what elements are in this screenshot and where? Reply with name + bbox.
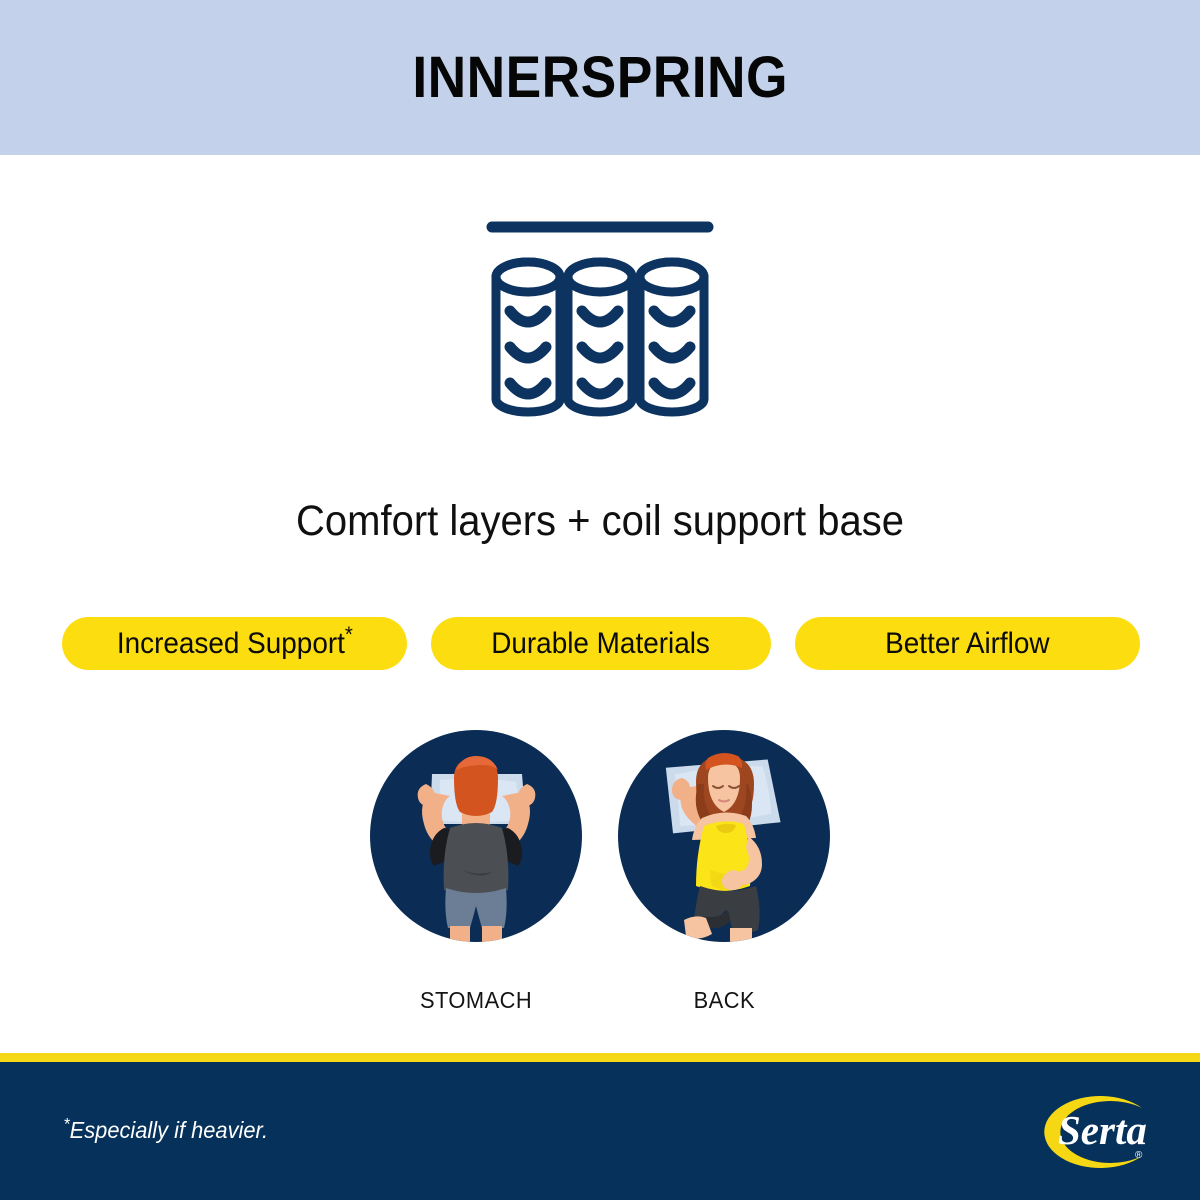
page-title: INNERSPRING (412, 44, 788, 111)
sleep-position-label: BACK (693, 987, 754, 1014)
footer-divider-rule (0, 1053, 1200, 1062)
sleep-position-back[interactable]: BACK (618, 730, 830, 1014)
feature-pill-label: Increased Support* (117, 627, 353, 661)
header-band: INNERSPRING (0, 0, 1200, 155)
registered-mark: ® (1135, 1150, 1143, 1161)
serta-wordmark: Serta (1058, 1107, 1147, 1153)
feature-pill-durable-materials[interactable]: Durable Materials (431, 617, 771, 670)
hero-icon-container (0, 215, 1200, 445)
sleep-position-stomach[interactable]: STOMACH (370, 730, 582, 1014)
back-sleeper-illustration (618, 730, 830, 942)
coil-cylinder-3 (640, 262, 704, 412)
feature-pill-better-airflow[interactable]: Better Airflow (795, 617, 1140, 670)
footnote-text: *Especially if heavier. (63, 1117, 268, 1144)
serta-logo[interactable]: Serta ® (1030, 1078, 1160, 1186)
stomach-sleeper-circle (370, 730, 582, 942)
coil-springs-icon (480, 215, 720, 445)
feature-pill-label: Better Airflow (885, 627, 1049, 661)
feature-pill-row: Increased Support* Durable Materials Bet… (62, 617, 1140, 670)
back-sleeper-circle (618, 730, 830, 942)
feature-pill-label: Durable Materials (492, 627, 711, 661)
coil-cylinder-2 (568, 262, 632, 412)
sleep-position-row: STOMACH (0, 730, 1200, 1014)
footnote-asterisk: * (345, 622, 353, 647)
coil-cylinder-1 (496, 262, 560, 412)
sleep-position-label: STOMACH (420, 987, 532, 1014)
hero-subtitle: Comfort layers + coil support base (42, 497, 1158, 546)
feature-pill-increased-support[interactable]: Increased Support* (62, 617, 407, 670)
innerspring-infographic: INNERSPRING (0, 0, 1200, 1200)
stomach-sleeper-illustration (370, 730, 582, 942)
